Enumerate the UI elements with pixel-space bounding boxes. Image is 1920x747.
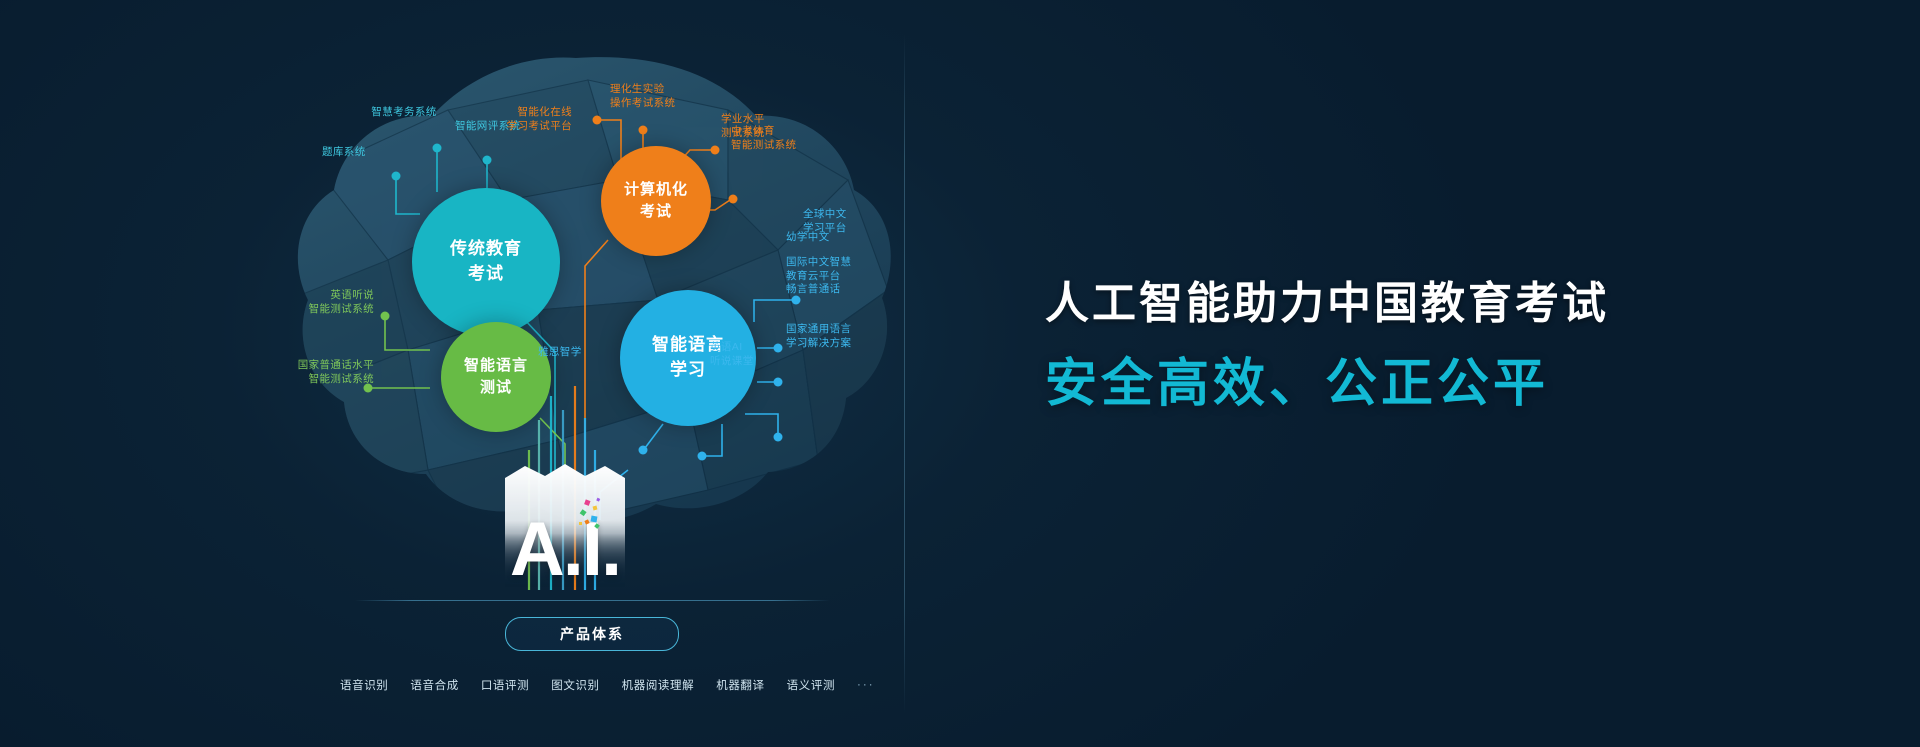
- node-computerized-exam-line2: 考试: [624, 201, 688, 223]
- leaf-label-english-listening-speaking-test: 英语听说 智能测试系统: [268, 288, 374, 316]
- leaf-label-international-chinese-cloud: 国际中文智慧 教育云平台: [786, 255, 851, 283]
- tag-speech-recognition[interactable]: 语音识别: [340, 677, 388, 693]
- capability-tag-list: 语音识别 语音合成 口语评测 图文识别 机器阅读理解 机器翻译 语义评测 ···: [340, 677, 840, 693]
- node-computerized-exam-line1: 计算机化: [624, 179, 688, 201]
- tag-machine-reading-comprehension[interactable]: 机器阅读理解: [622, 677, 695, 693]
- leaf-label-ielts-smart-learning: 雅思智学: [538, 345, 582, 359]
- ai-tree-illustration: 传统教育 考试 计算机化 考试 智能语言 测试 智能语言 学习 智慧考务系统 智…: [0, 0, 905, 747]
- tag-machine-translation[interactable]: 机器翻译: [716, 677, 764, 693]
- leaf-label-kids-chinese: 幼学中文: [786, 230, 830, 244]
- tag-semantic-evaluation[interactable]: 语义评测: [787, 677, 835, 693]
- divider-line: [355, 600, 830, 601]
- headline-primary: 人工智能助力中国教育考试: [1045, 280, 1725, 328]
- leaf-label-zhongkao-pe-test: 中考体育 智能测试系统: [731, 124, 796, 152]
- node-traditional-exam-line1: 传统教育: [450, 237, 522, 262]
- node-smart-language-test[interactable]: 智能语言 测试: [441, 322, 551, 432]
- tag-more-ellipsis[interactable]: ···: [857, 679, 875, 691]
- vertical-divider: [904, 34, 905, 714]
- node-smart-language-test-line1: 智能语言: [464, 355, 528, 377]
- hero-banner: 传统教育 考试 计算机化 考试 智能语言 测试 智能语言 学习 智慧考务系统 智…: [0, 0, 1920, 747]
- leaf-label-question-bank: 题库系统: [322, 145, 366, 159]
- headline-secondary: 安全高效、公正公平: [1045, 356, 1725, 413]
- node-computerized-exam[interactable]: 计算机化 考试: [601, 146, 711, 256]
- ai-trunk: A.I.: [499, 462, 631, 590]
- node-traditional-exam-line2: 考试: [450, 262, 522, 287]
- leaf-label-changyan-putonghua: 畅言普通话: [786, 282, 841, 296]
- leaf-label-english-ai-classroom: 英语AI 听说课堂: [710, 340, 754, 368]
- product-system-button[interactable]: 产品体系: [505, 617, 679, 651]
- tag-oral-evaluation[interactable]: 口语评测: [481, 677, 529, 693]
- tag-speech-synthesis[interactable]: 语音合成: [410, 677, 458, 693]
- tag-ocr[interactable]: 图文识别: [551, 677, 599, 693]
- sparkle-cluster: [499, 462, 631, 590]
- leaf-label-national-language-solution: 国家通用语言 学习解决方案: [786, 322, 851, 350]
- leaf-label-smart-exam-admin: 智慧考务系统: [371, 105, 436, 119]
- leaf-label-putonghua-level-test: 国家普通话水平 智能测试系统: [250, 358, 374, 386]
- node-smart-language-test-line2: 测试: [464, 377, 528, 399]
- headline-block: 人工智能助力中国教育考试 安全高效、公正公平: [1045, 280, 1725, 414]
- leaf-label-science-lab-exam-system: 理化生实验 操作考试系统: [610, 82, 675, 110]
- leaf-label-online-learning-exam-platform: 智能化在线 学习考试平台: [462, 105, 572, 133]
- node-traditional-exam[interactable]: 传统教育 考试: [412, 188, 560, 336]
